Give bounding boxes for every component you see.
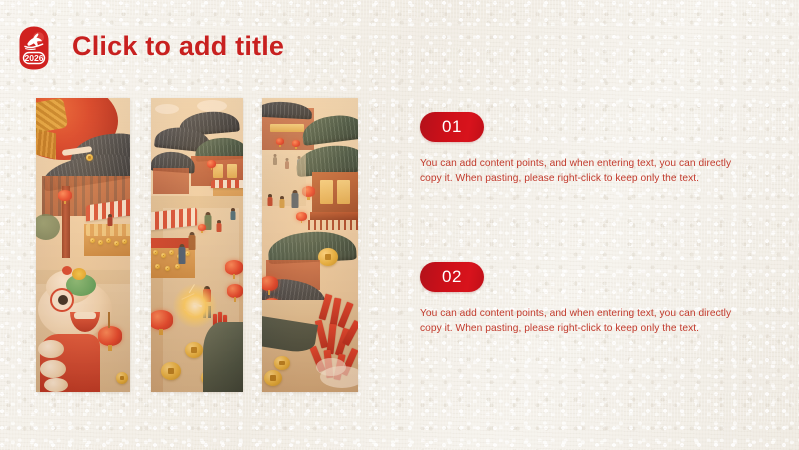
presentation-slide: 2026 Click to add title (0, 0, 799, 450)
content-block-01: 01 You can add content points, and when … (420, 112, 750, 186)
content-block-02: 02 You can add content points, and when … (420, 262, 750, 336)
slide-header: 2026 Click to add title (0, 0, 799, 92)
illustration-street-market (151, 98, 243, 392)
horse-seal-icon: 2026 (17, 25, 51, 71)
illustration-pagoda (262, 98, 358, 392)
gallery-image-lion-dance[interactable] (36, 98, 130, 392)
number-badge-01[interactable]: 01 (420, 112, 484, 142)
gallery-image-street-market[interactable] (151, 98, 243, 392)
content-text-02[interactable]: You can add content points, and when ent… (420, 306, 740, 336)
page-title[interactable]: Click to add title (72, 31, 284, 62)
number-badge-02[interactable]: 02 (420, 262, 484, 292)
illustration-lion-dance (36, 98, 130, 392)
gallery-image-pagoda[interactable] (262, 98, 358, 392)
image-gallery (36, 98, 358, 392)
content-text-01[interactable]: You can add content points, and when ent… (420, 156, 740, 186)
seal-year-label: 2026 (24, 53, 43, 63)
